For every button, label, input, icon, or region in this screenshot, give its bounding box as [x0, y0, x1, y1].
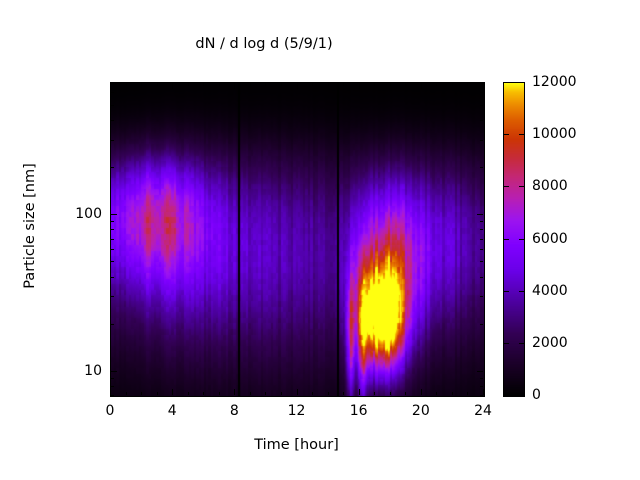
- x-tick-top: [297, 83, 298, 89]
- x-tick-major: [483, 389, 484, 395]
- colorbar-tick-label: 6000: [532, 231, 568, 247]
- x-tick-minor: [219, 392, 220, 395]
- colorbar-tick-label: 4000: [532, 283, 568, 299]
- colorbar-tick: [504, 291, 509, 292]
- colorbar-tick-label: 0: [532, 387, 541, 403]
- y-tick-minor: [111, 140, 114, 141]
- x-tick-top: [390, 83, 391, 86]
- colorbar: [503, 82, 525, 397]
- y-tick-minor: [111, 82, 114, 83]
- page-title: dN / d log d (5/9/1): [0, 36, 528, 52]
- y-tick-major: [111, 371, 117, 372]
- y-tick-right: [477, 214, 483, 215]
- x-tick-minor: [250, 392, 251, 395]
- x-tick-top: [234, 83, 235, 89]
- y-tick-label: 100: [54, 206, 102, 222]
- x-tick-minor: [281, 392, 282, 395]
- y-tick-right: [480, 378, 483, 379]
- y-tick-right: [480, 92, 483, 93]
- y-tick-minor: [111, 92, 114, 93]
- colorbar-tick-label: 8000: [532, 178, 568, 194]
- y-tick-right: [480, 249, 483, 250]
- x-tick-top: [374, 83, 375, 86]
- x-tick-top: [452, 83, 453, 86]
- x-tick-top: [436, 83, 437, 86]
- y-tick-right: [480, 140, 483, 141]
- colorbar-tick-label: 2000: [532, 335, 568, 351]
- x-tick-top: [343, 83, 344, 86]
- plot-area: [110, 82, 485, 397]
- y-tick-right: [480, 82, 483, 83]
- colorbar-gradient: [504, 83, 524, 396]
- x-tick-top: [157, 83, 158, 86]
- y-tick-right: [480, 296, 483, 297]
- x-tick-top: [405, 83, 406, 86]
- y-tick-right: [480, 386, 483, 387]
- y-tick-right: [480, 167, 483, 168]
- y-axis-title: Particle size [nm]: [22, 136, 38, 316]
- y-tick-minor: [111, 105, 114, 106]
- x-tick-top: [359, 83, 360, 89]
- y-tick-minor: [111, 120, 114, 121]
- x-tick-top: [110, 83, 111, 89]
- x-tick-major: [421, 389, 422, 395]
- x-tick-label: 8: [230, 403, 239, 419]
- y-tick-minor: [111, 239, 114, 240]
- x-tick-minor: [312, 392, 313, 395]
- x-tick-minor: [157, 392, 158, 395]
- x-tick-top: [281, 83, 282, 86]
- colorbar-tick: [504, 239, 509, 240]
- y-tick-minor: [111, 277, 114, 278]
- y-tick-right: [480, 221, 483, 222]
- colorbar-tick-label: 10000: [532, 126, 577, 142]
- colorbar-tick: [519, 239, 524, 240]
- y-tick-right: [480, 324, 483, 325]
- x-tick-top: [483, 83, 484, 89]
- x-tick-minor: [188, 392, 189, 395]
- x-tick-top: [328, 83, 329, 86]
- x-tick-label: 24: [474, 403, 492, 419]
- x-tick-minor: [374, 392, 375, 395]
- y-tick-right: [480, 261, 483, 262]
- y-tick-minor: [111, 296, 114, 297]
- x-tick-label: 12: [288, 403, 306, 419]
- x-tick-minor: [203, 392, 204, 395]
- y-tick-minor: [111, 386, 114, 387]
- y-tick-right: [480, 239, 483, 240]
- y-tick-minor: [111, 221, 114, 222]
- x-tick-minor: [343, 392, 344, 395]
- colorbar-tick: [519, 134, 524, 135]
- chart-root: dN / d log d (5/9/1) 04812162024 10100 T…: [0, 0, 640, 480]
- x-tick-top: [126, 83, 127, 86]
- colorbar-tick: [519, 186, 524, 187]
- y-tick-minor: [111, 229, 114, 230]
- x-tick-minor: [328, 392, 329, 395]
- x-tick-minor: [141, 392, 142, 395]
- x-tick-minor: [126, 392, 127, 395]
- x-tick-major: [359, 389, 360, 395]
- x-tick-label: 16: [350, 403, 368, 419]
- y-tick-right: [480, 120, 483, 121]
- colorbar-tick: [504, 134, 509, 135]
- y-tick-right: [477, 371, 483, 372]
- x-tick-top: [467, 83, 468, 86]
- x-tick-minor: [452, 392, 453, 395]
- x-tick-major: [172, 389, 173, 395]
- x-tick-minor: [390, 392, 391, 395]
- x-tick-label: 20: [412, 403, 430, 419]
- y-tick-label: 10: [54, 363, 102, 379]
- x-tick-top: [219, 83, 220, 86]
- x-tick-minor: [436, 392, 437, 395]
- y-tick-right: [480, 105, 483, 106]
- x-tick-top: [265, 83, 266, 86]
- x-tick-top: [188, 83, 189, 86]
- x-tick-top: [250, 83, 251, 86]
- y-tick-minor: [111, 261, 114, 262]
- colorbar-tick: [519, 291, 524, 292]
- y-tick-minor: [111, 378, 114, 379]
- colorbar-tick-label: 12000: [532, 74, 577, 90]
- y-tick-right: [480, 277, 483, 278]
- x-tick-major: [234, 389, 235, 395]
- x-tick-label: 4: [168, 403, 177, 419]
- y-tick-right: [480, 229, 483, 230]
- heatmap-canvas: [111, 83, 484, 396]
- x-tick-label: 0: [106, 403, 115, 419]
- colorbar-tick: [519, 343, 524, 344]
- y-tick-major: [111, 214, 117, 215]
- x-axis-title: Time [hour]: [110, 437, 483, 453]
- colorbar-tick: [504, 186, 509, 187]
- x-tick-major: [297, 389, 298, 395]
- y-tick-minor: [111, 167, 114, 168]
- y-tick-minor: [111, 395, 114, 396]
- colorbar-tick: [504, 343, 509, 344]
- x-tick-top: [141, 83, 142, 86]
- x-tick-top: [421, 83, 422, 89]
- x-tick-minor: [265, 392, 266, 395]
- x-tick-minor: [467, 392, 468, 395]
- y-tick-right: [480, 395, 483, 396]
- x-tick-minor: [405, 392, 406, 395]
- y-tick-minor: [111, 249, 114, 250]
- x-tick-top: [172, 83, 173, 89]
- x-tick-top: [203, 83, 204, 86]
- y-tick-minor: [111, 324, 114, 325]
- x-tick-top: [312, 83, 313, 86]
